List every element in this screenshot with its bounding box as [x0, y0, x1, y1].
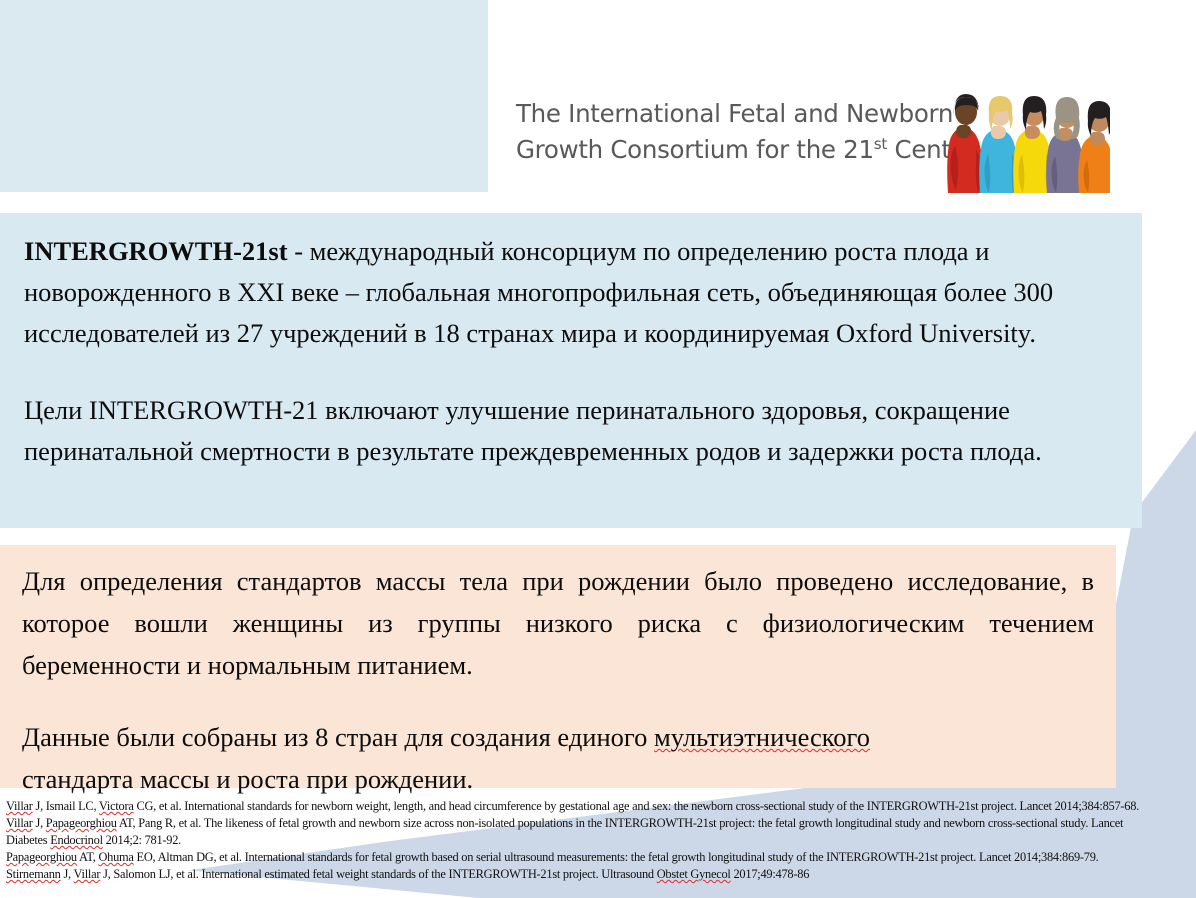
reference-term: AT, Pang R, et al. The likeness of fetal…	[117, 816, 1124, 830]
woman-figure-2	[979, 96, 1017, 193]
reference-line-ref-3: Papageorghiou AT, Ohuma EO, Altman DG, e…	[6, 849, 1191, 866]
logo-line-1: The International Fetal and Newborn	[516, 96, 990, 132]
reference-term: J,	[61, 867, 74, 881]
blue-paragraph-2: Цели INTERGROWTH-21 включают улучшение п…	[24, 390, 1116, 472]
reference-term-flagged: Papageorghiou	[46, 816, 117, 830]
reference-term: J, Ismail LC,	[33, 799, 99, 813]
consortium-logo-text: The International Fetal and Newborn Grow…	[516, 96, 990, 168]
reference-term: EO, Altman DG, et al. International stan…	[134, 850, 1099, 864]
reference-term-flagged: Ohuma	[98, 850, 133, 864]
reference-term-flagged: Victora	[99, 799, 134, 813]
reference-line-ref-2: Villar J, Papageorghiou AT, Pang R, et a…	[6, 815, 1191, 832]
reference-term-flagged: Stirnemann	[6, 867, 61, 881]
reference-term-flagged: Villar	[74, 867, 101, 881]
reference-line-ref-1: Villar J, Ismail LC, Victora CG, et al. …	[6, 798, 1191, 815]
peach-content-panel: Для определения стандартов массы тела пр…	[0, 545, 1116, 788]
logo-ordinal-suffix: st	[874, 135, 887, 153]
logo-line-2-pre: Growth Consortium for the 21	[516, 135, 874, 164]
woman-figure-5	[1078, 101, 1110, 193]
five-pregnant-women-illustration	[930, 88, 1110, 193]
reference-line-ref-2-cont: Diabetes Endocrinol 2014;2: 781-92.	[6, 832, 1191, 849]
title-banner	[0, 0, 488, 192]
reference-term: J, Salomon LJ, et al. International esti…	[100, 867, 656, 881]
peach-paragraph-2: Данные были собраны из 8 стран для созда…	[22, 716, 1094, 800]
logo-line-2: Growth Consortium for the 21st Century	[516, 132, 990, 168]
peach-paragraph-2-b: стандарта массы и роста при рождении.	[22, 764, 473, 794]
reference-term-flagged: Papageorghiou	[6, 850, 77, 864]
woman-figure-3	[1013, 96, 1051, 193]
peach-paragraph-2-a: Данные были собраны из 8 стран для созда…	[22, 722, 654, 752]
blue-content-panel: INTERGROWTH-21st - международный консорц…	[0, 213, 1142, 528]
reference-term: J,	[33, 816, 46, 830]
reference-term: 2017;49:478-86	[731, 867, 810, 881]
reference-term-flagged: Endocrinol	[50, 833, 103, 847]
reference-term-flagged: Obstet Gynecol	[657, 867, 731, 881]
peach-paragraph-1: Для определения стандартов массы тела пр…	[22, 560, 1094, 686]
references-list: Villar J, Ismail LC, Victora CG, et al. …	[6, 798, 1191, 883]
reference-term: Diabetes	[6, 833, 50, 847]
intergrowth-label: INTERGROWTH-21st	[24, 236, 288, 266]
woman-figure-1	[947, 94, 982, 193]
reference-term-flagged: Villar	[6, 799, 33, 813]
blue-paragraph-1: INTERGROWTH-21st - международный консорц…	[24, 231, 1116, 354]
reference-term: AT,	[77, 850, 99, 864]
reference-term: 2014;2: 781-92.	[103, 833, 181, 847]
reference-term: CG, et al. International standards for n…	[134, 799, 1139, 813]
reference-line-ref-4: Stirnemann J, Villar J, Salomon LJ, et a…	[6, 866, 1191, 883]
reference-term-flagged: Villar	[6, 816, 33, 830]
misspelled-word: мультиэтнического	[654, 722, 870, 752]
